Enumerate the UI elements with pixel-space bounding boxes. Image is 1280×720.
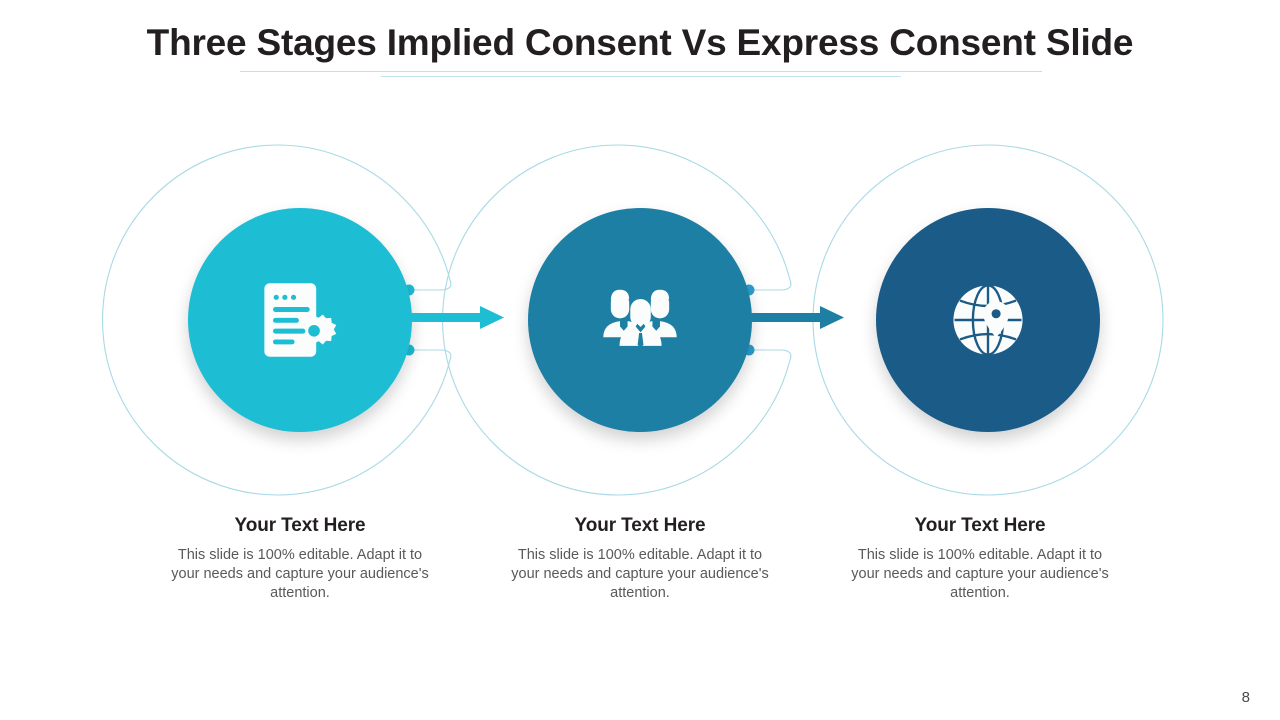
connector-arrow-1 [400, 140, 520, 500]
stage-item-3[interactable] [808, 140, 1168, 500]
stage-diagram [0, 140, 1280, 500]
caption-row: Your Text Here This slide is 100% editab… [0, 516, 1280, 626]
stage-disc-1[interactable] [188, 208, 412, 432]
team-group-icon [586, 266, 694, 374]
caption-heading: Your Text Here [830, 516, 1130, 537]
caption-heading: Your Text Here [150, 516, 450, 537]
caption-body: This slide is 100% editable. Adapt it to… [830, 546, 1130, 603]
document-gear-icon [246, 266, 354, 374]
stage-disc-2[interactable] [528, 208, 752, 432]
caption-3: Your Text Here This slide is 100% editab… [830, 516, 1130, 603]
connector-arrow-2 [740, 140, 860, 500]
caption-2: Your Text Here This slide is 100% editab… [490, 516, 790, 603]
page-number: 8 [1242, 689, 1250, 706]
caption-body: This slide is 100% editable. Adapt it to… [490, 546, 790, 603]
title-underline-short [381, 76, 901, 77]
caption-body: This slide is 100% editable. Adapt it to… [150, 546, 450, 603]
arrow-right-icon [408, 306, 504, 329]
globe-location-pin-icon [934, 266, 1042, 374]
caption-1: Your Text Here This slide is 100% editab… [150, 516, 450, 603]
page-title: Three Stages Implied Consent Vs Express … [0, 22, 1280, 64]
stage-disc-3[interactable] [876, 208, 1100, 432]
caption-heading: Your Text Here [490, 516, 790, 537]
arrow-right-icon [748, 306, 844, 329]
title-underline-long [240, 71, 1042, 72]
